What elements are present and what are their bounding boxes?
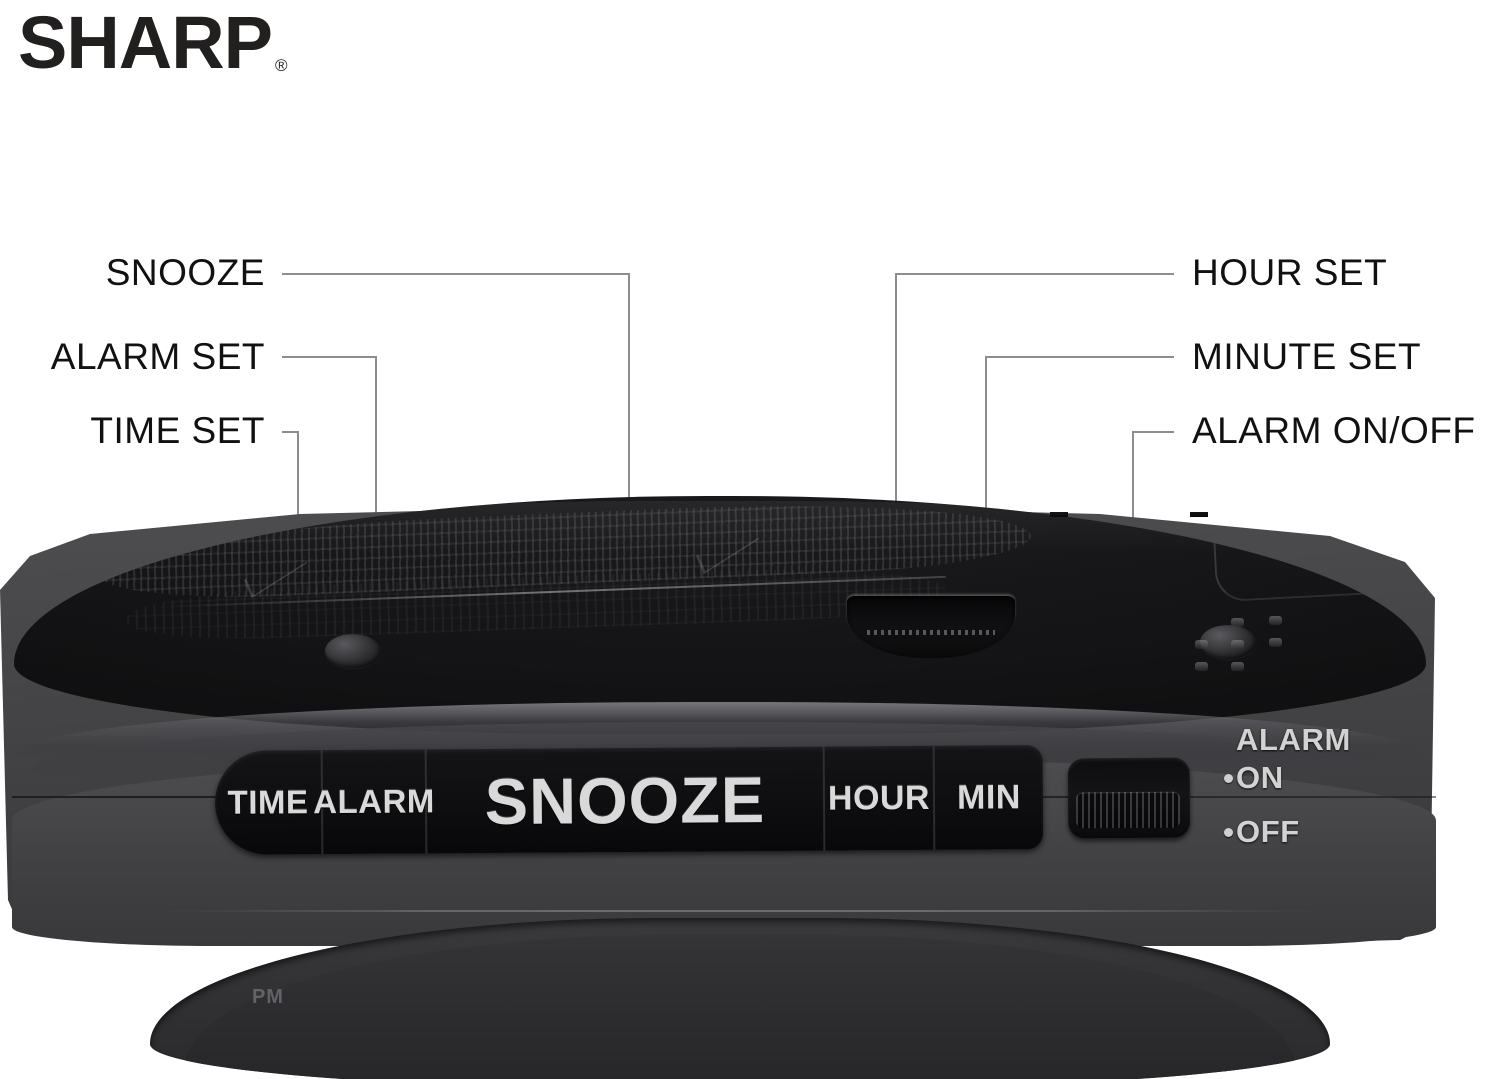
front-lower-edge-highlight <box>140 910 1340 912</box>
switch-label-alarm: ALARM <box>1236 722 1351 758</box>
product-callout-diagram: SHARP ® SNOOZE ALARM SET TIME SET HOUR S… <box>0 0 1500 1079</box>
leader-line-snooze-h <box>282 273 630 275</box>
callout-label-alarm-set: ALARM SET <box>0 336 265 378</box>
switch-rail-left <box>1050 512 1068 517</box>
molded-arrow-icon-right <box>692 529 760 563</box>
vent-slot <box>867 630 995 635</box>
callout-label-minute-set: MINUTE SET <box>1192 336 1421 378</box>
alarm-on-indicator-dot <box>1224 774 1233 783</box>
control-button-strip: TIME ALARM SNOOZE HOUR MIN <box>215 745 1044 855</box>
rubber-foot-left <box>325 634 381 668</box>
switch-label-on: ON <box>1236 760 1284 796</box>
hour-button[interactable]: HOUR <box>825 746 936 851</box>
leader-line-alarm-set-h <box>282 356 377 358</box>
leader-line-alarm-on-off-h <box>1132 431 1174 433</box>
registered-trademark-icon: ® <box>275 57 288 74</box>
alarm-clock-device: TIME ALARM SNOOZE HOUR MIN ALARM ON OFF … <box>0 470 1500 1079</box>
snooze-button[interactable]: SNOOZE <box>427 747 826 854</box>
molded-bump-cluster <box>1191 610 1341 684</box>
min-button[interactable]: MIN <box>935 745 1044 850</box>
molded-arrow-icon-left <box>240 553 308 587</box>
alarm-off-indicator-dot <box>1224 828 1233 837</box>
callout-label-time-set: TIME SET <box>0 410 265 452</box>
speaker-vent-recess <box>847 596 1015 658</box>
sharp-logo: SHARP ® <box>18 6 288 80</box>
switch-label-off: OFF <box>1236 814 1300 850</box>
alarm-switch-thumb[interactable] <box>1076 792 1180 829</box>
leader-line-minute-set-h <box>985 356 1174 358</box>
alarm-switch[interactable] <box>1068 758 1191 839</box>
switch-rail-right <box>1190 512 1208 517</box>
pm-indicator: PM <box>252 986 284 1009</box>
battery-door-seam <box>1211 501 1386 602</box>
callout-label-snooze: SNOOZE <box>0 252 265 294</box>
callout-label-hour-set: HOUR SET <box>1192 252 1387 294</box>
callout-label-alarm-on-off: ALARM ON/OFF <box>1192 410 1476 452</box>
brand-name: SHARP <box>18 6 272 80</box>
device-top-surface <box>14 496 1426 734</box>
time-button[interactable]: TIME <box>215 750 324 855</box>
alarm-button[interactable]: ALARM <box>323 749 428 854</box>
display-bezel-inner: PM <box>185 935 1294 1079</box>
leader-line-hour-set-h <box>895 273 1174 275</box>
